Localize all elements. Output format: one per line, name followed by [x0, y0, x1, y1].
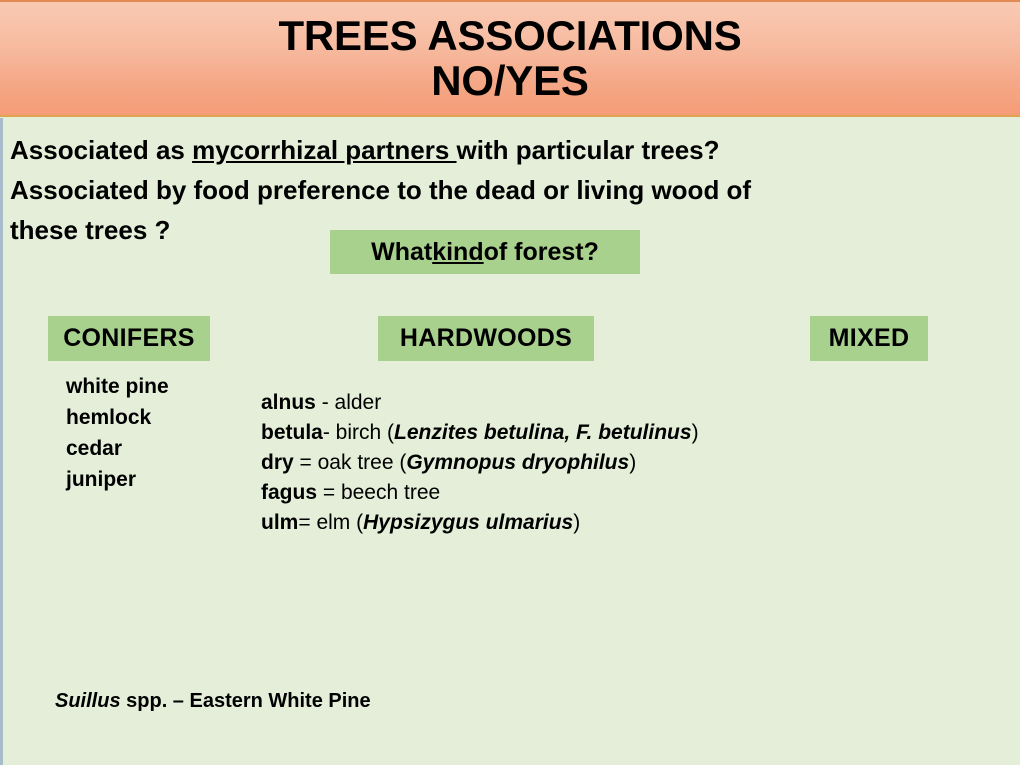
- list-item: ulm= elm (Hypsizygus ulmarius): [261, 508, 801, 538]
- hardwoods-tree-list: alnus - alder betula- birch (Lenzites be…: [261, 388, 801, 538]
- question-line-1-underlined: mycorrhizal partners: [192, 135, 456, 165]
- associated-fungus-name: Lenzites betulina, F. betulinus: [394, 421, 692, 444]
- list-item: betula- birch (Lenzites betulina, F. bet…: [261, 418, 801, 448]
- tree-common-name: alder: [335, 391, 382, 414]
- list-item: fagus = beech tree: [261, 478, 801, 508]
- tree-separator: -: [323, 421, 336, 444]
- tree-latin-name: betula: [261, 421, 323, 444]
- list-item: hemlock: [66, 402, 256, 433]
- tree-separator: =: [294, 451, 318, 474]
- category-heading-conifers: CONIFERS: [48, 316, 210, 361]
- suillus-footnote-text: spp. – Eastern White Pine: [121, 690, 371, 712]
- category-heading-mixed: MIXED: [810, 316, 928, 361]
- category-label-conifers: CONIFERS: [63, 324, 195, 353]
- list-item: dry = oak tree (Gymnopus dryophilus): [261, 448, 801, 478]
- question-line-1-prefix: Associated as: [10, 135, 192, 165]
- question-line-1-suffix: with particular trees?: [457, 135, 720, 165]
- page-title-line-2: NO/YES: [431, 59, 589, 104]
- tree-latin-name: alnus: [261, 391, 316, 414]
- forest-question-prefix: What: [371, 238, 432, 267]
- suillus-genus-name: Suillus: [55, 690, 121, 712]
- forest-question-suffix: of forest?: [484, 238, 599, 267]
- tree-common-name: elm: [316, 511, 356, 534]
- page-title-line-1: TREES ASSOCIATIONS: [278, 14, 741, 59]
- question-line-1: Associated as mycorrhizal partners with …: [10, 130, 910, 170]
- list-item: alnus - alder: [261, 388, 801, 418]
- conifers-tree-list: white pine hemlock cedar juniper: [66, 371, 256, 495]
- slide-title-banner: TREES ASSOCIATIONS NO/YES: [0, 0, 1020, 117]
- tree-latin-name: ulm: [261, 511, 298, 534]
- forest-type-question-box: What kind of forest?: [330, 230, 640, 274]
- associated-fungus-name: Hypsizygus ulmarius: [363, 511, 573, 534]
- paren-open: (: [387, 421, 394, 444]
- question-line-2: Associated by food preference to the dea…: [10, 170, 910, 210]
- tree-common-name: birch: [336, 421, 387, 444]
- tree-latin-name: dry: [261, 451, 294, 474]
- category-heading-hardwoods: HARDWOODS: [378, 316, 594, 361]
- list-item: juniper: [66, 464, 256, 495]
- list-item: white pine: [66, 371, 256, 402]
- forest-question-underlined: kind: [432, 238, 483, 267]
- suillus-footnote: Suillus spp. – Eastern White Pine: [55, 690, 371, 713]
- tree-separator: -: [316, 391, 335, 414]
- tree-common-name: beech tree: [341, 481, 440, 504]
- slide-canvas: TREES ASSOCIATIONS NO/YES Associated as …: [0, 0, 1020, 765]
- paren-close: ): [629, 451, 636, 474]
- tree-common-name: oak tree: [318, 451, 400, 474]
- associated-fungus-name: Gymnopus dryophilus: [406, 451, 629, 474]
- paren-close: ): [692, 421, 699, 444]
- slide-left-edge-accent: [0, 118, 3, 765]
- list-item: cedar: [66, 433, 256, 464]
- category-label-hardwoods: HARDWOODS: [400, 324, 572, 353]
- tree-separator: =: [298, 511, 316, 534]
- paren-close: ): [573, 511, 580, 534]
- tree-latin-name: fagus: [261, 481, 317, 504]
- tree-separator: =: [317, 481, 341, 504]
- category-label-mixed: MIXED: [829, 324, 910, 353]
